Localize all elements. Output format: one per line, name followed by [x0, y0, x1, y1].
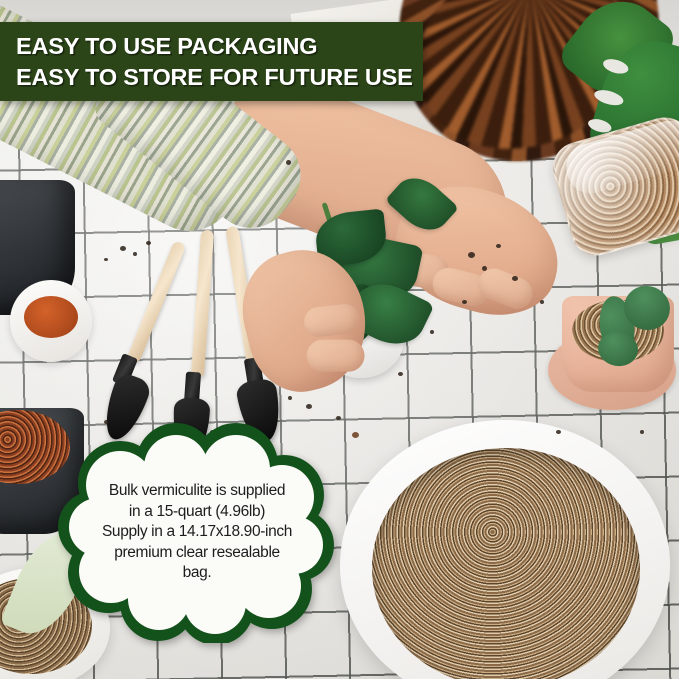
soil-speck — [336, 416, 341, 420]
callout-line: Bulk vermiculite is supplied — [80, 481, 314, 502]
finger — [303, 303, 362, 339]
product-marketing-image: EASY TO USE PACKAGING EASY TO STORE FOR … — [0, 0, 679, 679]
pigment-dish-contents — [24, 296, 78, 338]
soil-speck — [496, 244, 501, 248]
soil-speck — [640, 430, 644, 434]
soil-speck — [468, 252, 475, 258]
soil-speck — [352, 432, 359, 438]
soil-speck — [482, 266, 487, 271]
soil-speck — [286, 160, 291, 165]
finger — [307, 340, 365, 372]
soil-speck — [512, 276, 518, 281]
soil-speck — [306, 404, 312, 409]
soil-speck — [398, 372, 403, 376]
soil-speck — [540, 300, 544, 304]
soil-speck — [104, 258, 108, 261]
soil-speck — [146, 241, 151, 245]
callout-line: premium clear resealable — [80, 543, 314, 564]
soil-speck — [462, 300, 467, 304]
header-banner: EASY TO USE PACKAGING EASY TO STORE FOR … — [0, 22, 423, 101]
callout-line: bag. — [80, 563, 314, 584]
banner-line-1: EASY TO USE PACKAGING — [16, 31, 423, 62]
callout-bubble: Bulk vermiculite is supplied in a 15-qua… — [58, 423, 336, 643]
soil-speck — [430, 330, 434, 334]
banner-line-2: EASY TO STORE FOR FUTURE USE — [16, 62, 423, 93]
bowl-vermiculite — [372, 448, 640, 679]
soil-speck — [120, 246, 126, 251]
callout-line: Supply in a 14.17x18.90-inch — [80, 522, 314, 543]
leaf-notch — [593, 87, 625, 108]
callout-text: Bulk vermiculite is supplied in a 15-qua… — [80, 481, 314, 584]
finger — [474, 264, 538, 314]
soil-speck — [133, 252, 137, 256]
callout-line: in a 15-quart (4.96lb) — [80, 502, 314, 523]
soil-speck — [556, 430, 561, 434]
soil-speck — [288, 396, 292, 400]
